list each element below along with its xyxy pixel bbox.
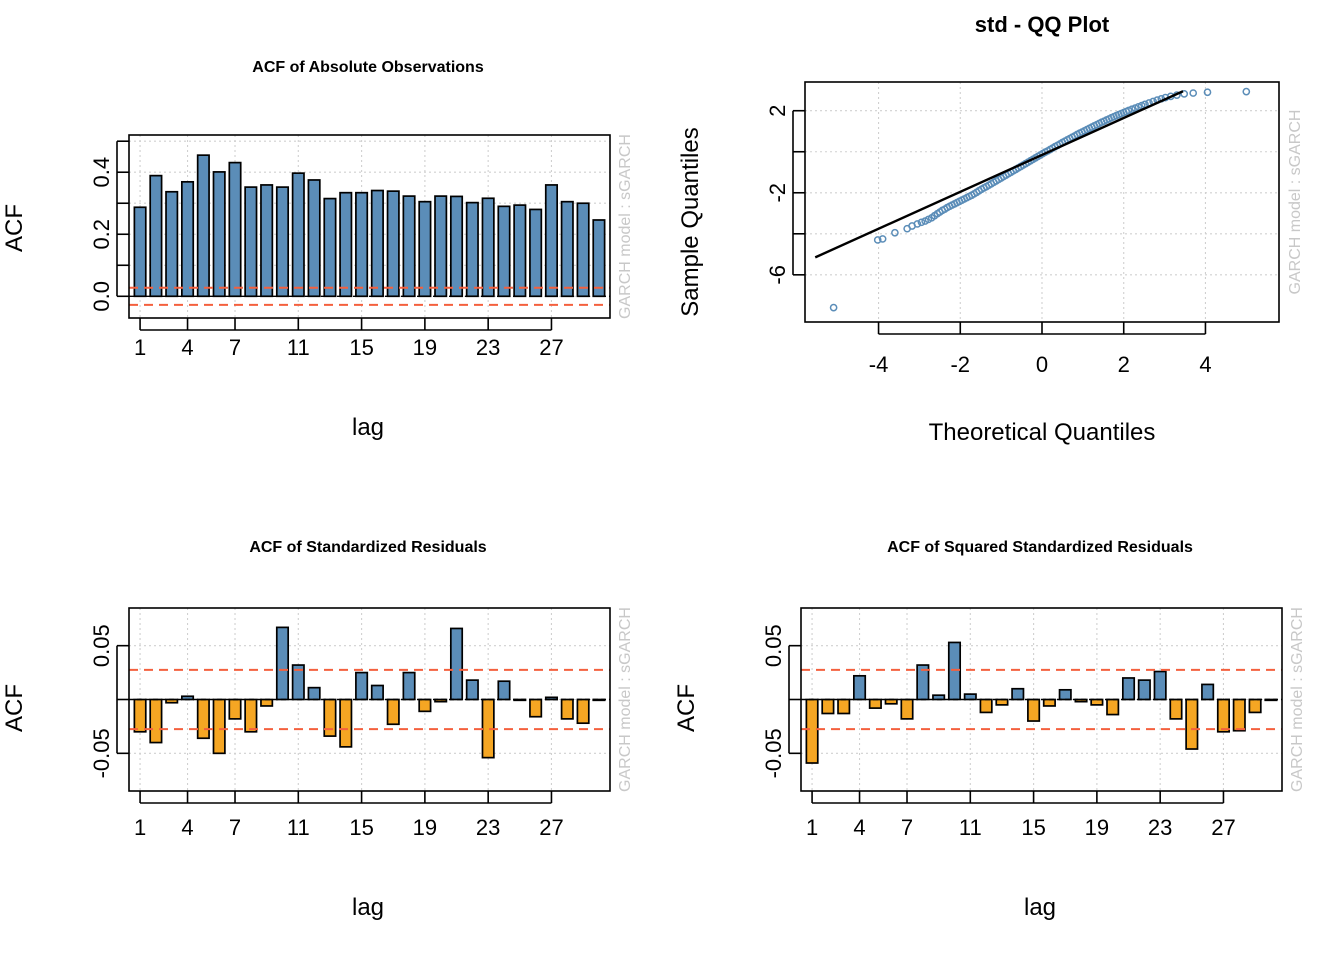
- acf-bar: [451, 628, 462, 699]
- acf-bar: [870, 700, 881, 709]
- acf-bar: [996, 700, 1007, 705]
- acf-bar: [150, 700, 161, 743]
- acf-bar: [1107, 700, 1118, 715]
- acf-bar: [1012, 689, 1023, 700]
- acf-bar: [451, 196, 462, 296]
- gridlines: [805, 82, 1279, 322]
- y-tick-label: 0.05: [761, 624, 786, 667]
- acf-bar: [1091, 700, 1102, 705]
- x-tick-label: 27: [1211, 815, 1235, 840]
- acf-bar: [1123, 678, 1134, 700]
- acf-bar: [213, 172, 224, 296]
- acf-bar: [546, 185, 557, 296]
- acf-bar: [372, 191, 383, 297]
- x-axis-label: Theoretical Quantiles: [929, 419, 1156, 446]
- acf-bar: [229, 163, 240, 297]
- acf-bar: [467, 680, 478, 699]
- acf-bar: [1234, 700, 1245, 731]
- acf-bar: [261, 700, 272, 706]
- y-axis-label: ACF: [1, 204, 28, 252]
- y-tick-label: 0.4: [89, 157, 114, 188]
- garch-model-watermark: GARCH model : sGARCH: [617, 134, 634, 319]
- garch-model-watermark: GARCH model : sGARCH: [1287, 110, 1304, 295]
- x-tick-label: 7: [901, 815, 913, 840]
- acf-bar: [150, 176, 161, 297]
- x-tick-label: 1: [134, 335, 146, 360]
- acf-bar: [901, 700, 912, 719]
- x-tick-label: 23: [1148, 815, 1172, 840]
- acf-bar: [1249, 700, 1260, 713]
- garch-model-watermark: GARCH model : sGARCH: [1289, 607, 1306, 792]
- x-tick-label: 4: [181, 815, 193, 840]
- acf-bar: [388, 191, 399, 296]
- acf-bar: [562, 202, 573, 297]
- x-tick-label: 2: [1118, 352, 1130, 377]
- chart-acf_absolute_observations: ACF of Absolute Observations0.00.20.4147…: [0, 0, 672, 480]
- x-tick-label: 15: [1021, 815, 1045, 840]
- x-tick-label: -4: [869, 352, 889, 377]
- chart-title: ACF of Absolute Observations: [252, 59, 484, 76]
- x-tick-label: 0: [1036, 352, 1048, 377]
- acf-bar: [822, 700, 833, 714]
- acf-bar: [324, 700, 335, 737]
- acf-bar: [419, 202, 430, 297]
- acf-bar: [482, 198, 493, 296]
- qq-point: [1243, 89, 1249, 95]
- acf-bar: [577, 700, 588, 724]
- y-tick-label: -0.05: [89, 728, 114, 778]
- x-axis-label: lag: [352, 414, 384, 441]
- acf-bar: [388, 700, 399, 725]
- acf-bar: [1218, 700, 1229, 732]
- acf-bar: [949, 642, 960, 699]
- acf-bar: [293, 173, 304, 296]
- y-tick-label: 2: [765, 105, 790, 117]
- acf-bar: [356, 673, 367, 700]
- acf-bar: [1060, 690, 1071, 700]
- acf-bar: [134, 700, 145, 732]
- acf-bar: [403, 673, 414, 700]
- acf-bar: [324, 199, 335, 297]
- x-tick-label: 7: [229, 335, 241, 360]
- acf-bar: [213, 700, 224, 754]
- x-tick-label: 19: [1085, 815, 1109, 840]
- chart-acf_squared_standardized_residuals: ACF of Squared Standardized Residuals0.0…: [672, 480, 1344, 960]
- acf-bar: [403, 196, 414, 296]
- acf-bar: [1170, 700, 1181, 719]
- x-tick-label: 4: [1199, 352, 1211, 377]
- panel-acf_squared_standardized_residuals: ACF of Squared Standardized Residuals0.0…: [672, 480, 1344, 960]
- acf-bar: [166, 192, 177, 297]
- x-tick-label: 7: [229, 815, 241, 840]
- x-tick-label: 11: [287, 815, 310, 840]
- acf-bar: [340, 193, 351, 297]
- y-tick-label: -6: [765, 265, 790, 285]
- acf-bar: [1202, 684, 1213, 699]
- acf-bar: [308, 688, 319, 700]
- acf-bar: [182, 182, 193, 296]
- qq-point: [892, 230, 898, 236]
- acf-bar: [198, 700, 209, 739]
- acf-bar: [372, 686, 383, 700]
- acf-bar: [980, 700, 991, 713]
- acf-bar: [245, 187, 256, 296]
- qq-point: [831, 305, 837, 311]
- y-tick-label: -0.05: [761, 728, 786, 778]
- acf-bar: [277, 187, 288, 296]
- acf-bar: [277, 627, 288, 699]
- chart-title: ACF of Squared Standardized Residuals: [887, 539, 1193, 556]
- acf-bar: [577, 203, 588, 296]
- acf-bar: [530, 700, 541, 717]
- acf-bar: [965, 694, 976, 699]
- x-tick-label: 15: [349, 335, 373, 360]
- acf-bar: [1044, 700, 1055, 706]
- y-tick-label: 0.05: [89, 624, 114, 667]
- panel-acf_standardized_residuals: ACF of Standardized Residuals0.05-0.0514…: [0, 480, 672, 960]
- panel-qq_plot: std - QQ Plot2-2-6-4-2024Theoretical Qua…: [672, 0, 1344, 480]
- qq-reference-line: [815, 91, 1183, 257]
- x-tick-label: 27: [539, 335, 563, 360]
- x-tick-label: 4: [853, 815, 865, 840]
- x-axis-label: lag: [352, 894, 384, 921]
- garch-model-watermark: GARCH model : sGARCH: [617, 607, 634, 792]
- bars: [806, 642, 1276, 763]
- chart-title: std - QQ Plot: [975, 12, 1110, 37]
- acf-bar: [806, 700, 817, 764]
- acf-bar: [1154, 672, 1165, 700]
- y-tick-label: 0.2: [89, 219, 114, 250]
- x-axis-label: lag: [1024, 894, 1056, 921]
- qq-points: [831, 89, 1250, 311]
- acf-bar: [838, 700, 849, 714]
- acf-bar: [1139, 680, 1150, 699]
- acf-bar: [435, 196, 446, 296]
- chart-qq_plot: std - QQ Plot2-2-6-4-2024Theoretical Qua…: [672, 0, 1344, 480]
- acf-bar: [854, 676, 865, 700]
- x-tick-label: 4: [181, 335, 193, 360]
- acf-bar: [308, 180, 319, 296]
- acf-bar: [1186, 700, 1197, 750]
- chart-acf_standardized_residuals: ACF of Standardized Residuals0.05-0.0514…: [0, 480, 672, 960]
- x-tick-label: 11: [287, 335, 310, 360]
- plot-grid: ACF of Absolute Observations0.00.20.4147…: [0, 0, 1344, 960]
- x-tick-label: 1: [134, 815, 146, 840]
- y-axis-label: ACF: [673, 684, 700, 732]
- x-tick-label: 27: [539, 815, 563, 840]
- acf-bar: [593, 220, 604, 296]
- acf-bar: [356, 193, 367, 297]
- acf-bar: [134, 207, 145, 296]
- acf-bar: [261, 185, 272, 296]
- acf-bar: [245, 700, 256, 732]
- x-tick-label: -2: [950, 352, 970, 377]
- acf-bar: [467, 203, 478, 297]
- y-tick-label: -2: [765, 183, 790, 203]
- x-tick-label: 19: [413, 815, 437, 840]
- x-tick-label: 23: [476, 335, 500, 360]
- y-tick-label: 0.0: [89, 281, 114, 312]
- x-tick-label: 19: [413, 335, 437, 360]
- y-axis-label: ACF: [1, 684, 28, 732]
- x-tick-label: 1: [806, 815, 818, 840]
- bars: [134, 155, 604, 296]
- acf-bar: [498, 681, 509, 699]
- bars: [134, 627, 604, 757]
- y-axis-label: Sample Quantiles: [677, 127, 704, 316]
- x-tick-label: 23: [476, 815, 500, 840]
- acf-bar: [198, 155, 209, 296]
- acf-bar: [229, 700, 240, 719]
- acf-bar: [498, 206, 509, 296]
- x-tick-label: 15: [349, 815, 373, 840]
- chart-title: ACF of Standardized Residuals: [249, 539, 486, 556]
- qq-point: [1190, 90, 1196, 96]
- x-tick-label: 11: [959, 815, 982, 840]
- acf-bar: [1028, 700, 1039, 722]
- acf-bar: [562, 700, 573, 719]
- acf-bar: [514, 205, 525, 296]
- acf-bar: [419, 700, 430, 712]
- acf-bar: [530, 209, 541, 296]
- acf-bar: [340, 700, 351, 747]
- panel-acf_absolute_observations: ACF of Absolute Observations0.00.20.4147…: [0, 0, 672, 480]
